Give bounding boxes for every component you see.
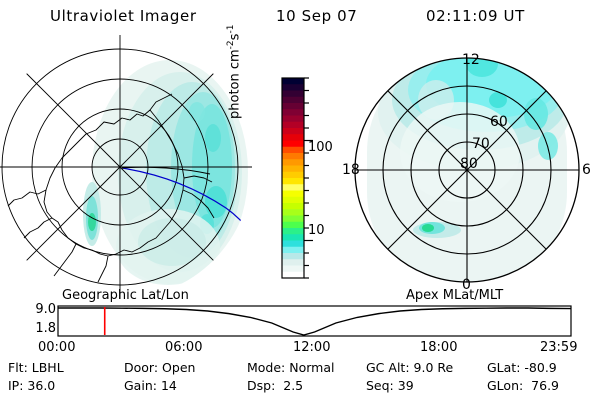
orbit-xtick-0: 00:00: [38, 340, 75, 355]
status-mode: Mode: Normal: [247, 360, 335, 375]
orbit-xtick-4: 23:59: [540, 340, 577, 355]
colorbar-tick-10: 10: [308, 223, 325, 238]
status-flt: Flt: LBHL: [8, 360, 64, 375]
observation-date: 10 Sep 07: [276, 7, 357, 25]
mlt-label-6: 6: [582, 162, 591, 178]
colorbar-tick-100: 100: [308, 140, 333, 155]
mlt-label-12: 12: [462, 52, 480, 68]
status-dsp: Dsp: 2.5: [247, 378, 303, 393]
mlat-label-60: 60: [490, 114, 508, 130]
orbit-xtick-1: 06:00: [165, 340, 202, 355]
orbit-ytick-low: 1.8: [0, 321, 56, 336]
right-panel-title: Apex MLat/MLT: [406, 288, 503, 303]
uvi-screenshot-root: Ultraviolet Imager 10 Sep 07 02:11:09 UT: [0, 0, 600, 400]
status-glon: GLon: 76.9: [487, 378, 559, 393]
apex-polar-panel: 60 70 80 12 6 0 18: [340, 42, 600, 292]
colorbar-ticks: [304, 78, 313, 278]
instrument-title: Ultraviolet Imager: [50, 7, 197, 25]
apex-polar-svg: 60 70 80 12 6 0 18: [340, 42, 600, 292]
status-seq: Seq: 39: [366, 378, 414, 393]
colorbar-panel: photon cm-2s-1 100 10: [262, 45, 338, 295]
status-glat: GLat: -80.9: [487, 360, 557, 375]
orbit-ytick-high: 9.0: [0, 302, 56, 317]
left-panel-title: Geographic Lat/Lon: [62, 288, 189, 303]
mlat-label-70: 70: [472, 136, 490, 152]
observation-time: 02:11:09 UT: [426, 7, 525, 25]
colorbar-bands: [282, 78, 304, 279]
aurora-emission: [83, 60, 248, 285]
status-gcalt: GC Alt: 9.0 Re: [366, 360, 453, 375]
orbit-altitude-panel: Geographic Lat/Lon Apex MLat/MLT GC Alt …: [0, 288, 600, 356]
status-block: Flt: LBHL Door: Open Mode: Normal GC Alt…: [0, 358, 600, 400]
colorbar-unit-label: photon cm-2s-1: [226, 0, 242, 119]
mlat-label-80: 80: [460, 156, 478, 172]
orbit-xtick-2: 12:00: [293, 340, 330, 355]
status-door: Door: Open: [124, 360, 195, 375]
status-gain: Gain: 14: [124, 378, 177, 393]
colorbar-svg: [262, 45, 338, 295]
orbit-xtick-3: 18:00: [420, 340, 457, 355]
status-ip: IP: 36.0: [8, 378, 55, 393]
mlt-label-18: 18: [342, 162, 360, 178]
